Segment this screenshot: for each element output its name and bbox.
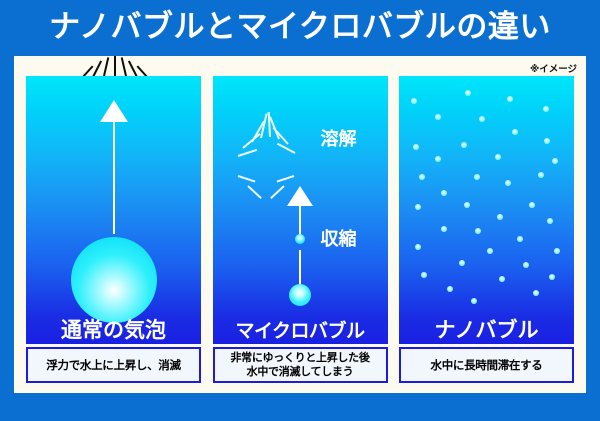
nano-bubble-dot [435, 156, 441, 162]
nano-bubble-dot [523, 262, 529, 268]
nano-bubble-dot [474, 174, 480, 180]
nano-bubble-dot [435, 114, 441, 120]
slow-rise-arrow-head-icon [287, 186, 313, 206]
micro-bubble-shape [289, 284, 311, 306]
nano-bubble-dot [533, 290, 539, 296]
panel-normal-bubble: 通常の気泡 浮力で水上に上昇し、消滅 [26, 76, 201, 383]
panel-row: 通常の気泡 浮力で水上に上昇し、消滅 [26, 76, 574, 383]
panel-nano-bubble: ナノバブル 水中に長時間滞在する [399, 76, 574, 383]
nano-bubble-dot [538, 172, 544, 178]
nano-bubble-dot [441, 190, 447, 196]
large-bubble-shape [71, 237, 157, 323]
shrink-path-line-icon [299, 250, 301, 286]
caption-line: 水中に長時間滞在する [431, 358, 543, 372]
nano-bubble-dot [505, 180, 511, 186]
caption-box-normal: 浮力で水上に上昇し、消滅 [26, 347, 201, 383]
panel-heading-normal: 通常の気泡 [26, 320, 201, 341]
nano-bubble-dot [497, 214, 503, 220]
nano-bubble-dot [512, 129, 518, 135]
title-bar: ナノバブルとマイクロバブルの違い [0, 0, 600, 56]
nano-bubble-dot [419, 174, 425, 180]
nano-bubble-dot [413, 144, 419, 150]
nano-bubble-dot [411, 98, 417, 104]
panel-micro-bubble: 溶解 収縮 マイクロバブル 非常にゆっくりと上昇した後 水中で消滅してしまう [213, 76, 388, 383]
nano-bubble-dot [441, 226, 447, 232]
nano-bubble-dot [464, 202, 470, 208]
annotation-dissolve: 溶解 [321, 131, 357, 149]
image-disclaimer-note: ※イメージ [530, 61, 577, 75]
annotation-shrink: 収縮 [321, 231, 357, 249]
nano-bubble-dot [421, 272, 427, 278]
page-title: ナノバブルとマイクロバブルの違い [49, 12, 551, 43]
nano-bubble-dot [554, 248, 560, 254]
panel-heading-micro: マイクロバブル [213, 322, 388, 341]
caption-box-micro: 非常にゆっくりと上昇した後 水中で消滅してしまう [213, 347, 388, 383]
nano-bubble-dot [517, 236, 523, 242]
nano-bubble-dot [471, 298, 477, 304]
nano-bubble-dot [552, 158, 558, 164]
nano-bubble-dot [415, 204, 421, 210]
water-column-nano: ナノバブル [399, 76, 574, 344]
caption-box-nano: 水中に長時間滞在する [399, 347, 574, 383]
slow-rise-arrow-shaft-icon [299, 206, 301, 236]
nano-bubble-dot [529, 202, 535, 208]
caption-line: 非常にゆっくりと上昇した後 [230, 351, 369, 365]
nano-bubble-dot [461, 142, 467, 148]
panel-heading-nano: ナノバブル [399, 320, 574, 341]
nano-bubble-dot [465, 90, 471, 96]
nano-bubble-dot [479, 116, 485, 122]
rise-arrow-shaft-icon [113, 122, 115, 234]
nano-bubble-dot [547, 218, 553, 224]
infographic-root: ナノバブルとマイクロバブルの違い ※イメージ [0, 0, 600, 421]
content-board: ※イメージ 通常の気泡 [14, 56, 586, 393]
nano-bubble-dot [507, 96, 513, 102]
nano-bubble-dot [544, 138, 550, 144]
caption-line: 水中で消滅してしまう [247, 365, 354, 379]
nano-bubble-dot [475, 228, 481, 234]
caption-line: 浮力で水上に上昇し、消滅 [46, 358, 180, 372]
shrinking-bubble-small [295, 234, 305, 244]
nano-bubble-dot [415, 244, 421, 250]
rise-arrow-head-icon [100, 100, 128, 122]
nano-bubble-dot [487, 248, 493, 254]
nano-bubble-dot [495, 154, 501, 160]
nano-bubble-dot [459, 260, 465, 266]
nano-bubble-dot [499, 276, 505, 282]
nano-bubble-dot [543, 106, 549, 112]
nano-bubble-dot [447, 286, 453, 292]
water-column-normal: 通常の気泡 [26, 76, 201, 344]
nano-bubble-dot [549, 274, 555, 280]
water-column-micro: 溶解 収縮 マイクロバブル [213, 76, 388, 344]
